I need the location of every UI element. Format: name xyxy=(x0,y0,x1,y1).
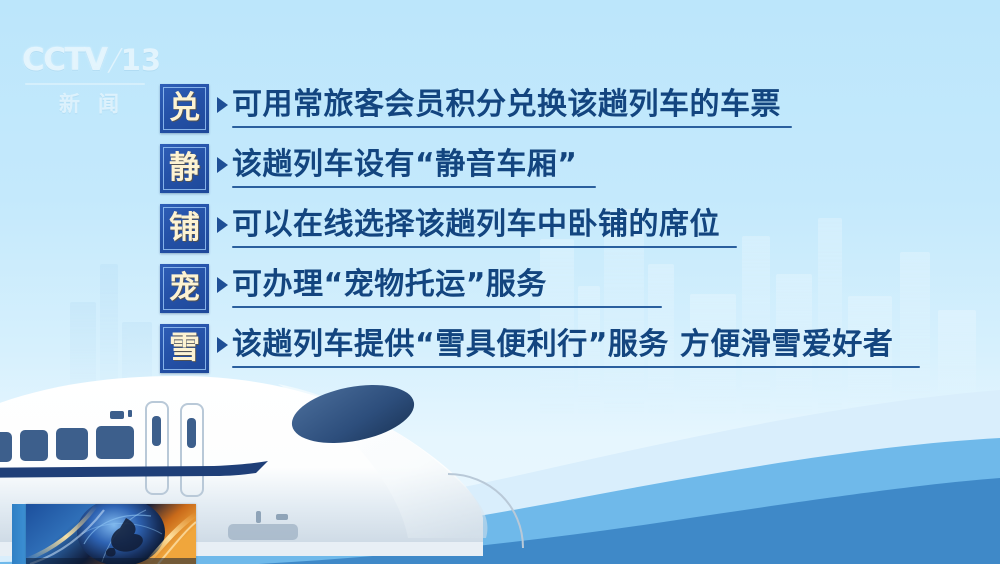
list-item: 雪 该趟列车提供“雪具便利行”服务 方便滑雪爱好者 xyxy=(160,323,990,383)
list-item-underline xyxy=(232,186,596,188)
badge-keyword-3: 铺 xyxy=(160,204,209,253)
list-item: 静 该趟列车设有“静音车厢” xyxy=(160,143,990,203)
badge-keyword-2: 静 xyxy=(160,144,209,193)
cctv-logo-text: CCTV xyxy=(22,42,107,78)
cctv-logo-slash: / xyxy=(105,43,124,78)
badge-character: 宠 xyxy=(169,273,200,304)
bullet-arrow-icon xyxy=(217,217,228,233)
badge-keyword-5: 雪 xyxy=(160,324,209,373)
list-item-underline xyxy=(232,306,662,308)
bullet-arrow-icon xyxy=(217,97,228,113)
cctv13-channel-watermark: CCTV / 13 新 闻 xyxy=(22,38,158,116)
list-item-label: 该趟列车提供“雪具便利行”服务 方便滑雪爱好者 xyxy=(232,325,920,365)
list-item-label: 可办理“宠物托运”服务 xyxy=(232,265,662,305)
badge-keyword-1: 兑 xyxy=(160,84,209,133)
list-item-label: 可用常旅客会员积分兑换该趟列车的车票 xyxy=(232,85,792,125)
cctv-logo-rule xyxy=(25,83,145,85)
broadcast-screen: CCTV / 13 新 闻 兑 可用常旅客会员积分兑换该趟列车的车票 xyxy=(0,0,1000,564)
list-item: 铺 可以在线选择该趟列车中卧铺的席位 xyxy=(160,203,990,263)
badge-character: 雪 xyxy=(169,333,200,364)
bullet-arrow-icon xyxy=(217,277,228,293)
cctv-channel-number: 13 xyxy=(121,43,161,77)
badge-character: 静 xyxy=(169,153,200,184)
cctv-news-globe-bumper xyxy=(26,504,196,564)
bullet-arrow-icon xyxy=(217,337,228,353)
list-item-underline xyxy=(232,246,737,248)
list-item-label: 该趟列车设有“静音车厢” xyxy=(232,145,596,185)
list-item-underline xyxy=(232,126,792,128)
badge-character: 兑 xyxy=(169,93,200,124)
list-item: 宠 可办理“宠物托运”服务 xyxy=(160,263,990,323)
list-item-label: 可以在线选择该趟列车中卧铺的席位 xyxy=(232,205,737,245)
badge-character: 铺 xyxy=(169,213,200,244)
bullet-arrow-icon xyxy=(217,157,228,173)
list-item: 兑 可用常旅客会员积分兑换该趟列车的车票 xyxy=(160,83,990,143)
feature-list: 兑 可用常旅客会员积分兑换该趟列车的车票 静 该趟列车设有“静音车厢” xyxy=(160,83,990,383)
badge-keyword-4: 宠 xyxy=(160,264,209,313)
list-item-underline xyxy=(232,366,920,368)
